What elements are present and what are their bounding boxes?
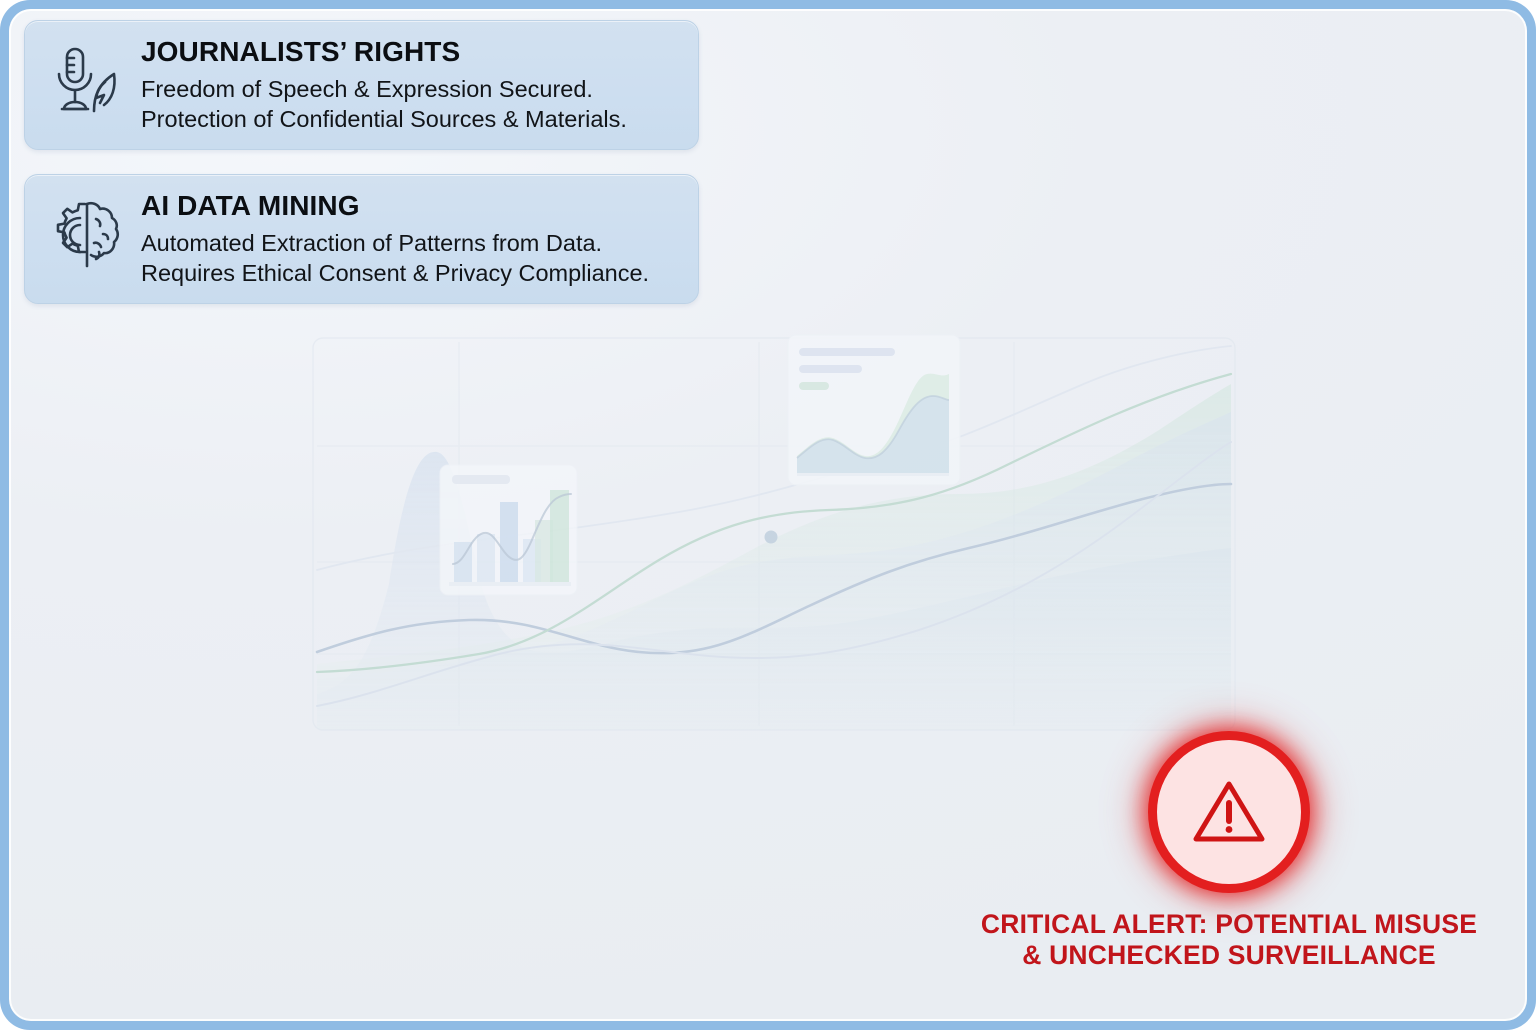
- alert-circle[interactable]: [1148, 731, 1310, 893]
- critical-alert-block: CRITICAL ALERT: POTENTIAL MISUSE & UNCHE…: [939, 704, 1519, 979]
- card-title: JOURNALISTS’ RIGHTS: [141, 37, 680, 68]
- card-title: AI DATA MINING: [141, 191, 680, 222]
- card-line-2: Requires Ethical Consent & Privacy Compl…: [141, 258, 680, 288]
- card-line-1: Freedom of Speech & Expression Secured.: [141, 74, 680, 104]
- alert-caption-line-1: CRITICAL ALERT: POTENTIAL MISUSE: [981, 909, 1477, 939]
- alert-caption: CRITICAL ALERT: POTENTIAL MISUSE & UNCHE…: [939, 909, 1519, 972]
- card-line-1: Automated Extraction of Patterns from Da…: [141, 228, 680, 258]
- card-ai-data-mining[interactable]: AI DATA MINING Automated Extraction of P…: [24, 174, 699, 304]
- microphone-feather-icon: [41, 35, 133, 127]
- alert-caption-line-2: & UNCHECKED SURVEILLANCE: [939, 940, 1519, 971]
- data-point-marker: [765, 531, 778, 544]
- inset-area-chart-card: [788, 335, 960, 485]
- app-frame: JOURNALISTS’ RIGHTS Freedom of Speech & …: [0, 0, 1536, 1030]
- card-text-block: JOURNALISTS’ RIGHTS Freedom of Speech & …: [141, 35, 680, 134]
- dashboard-illustration: [309, 334, 1239, 734]
- card-text-block: AI DATA MINING Automated Extraction of P…: [141, 189, 680, 288]
- stage-canvas: JOURNALISTS’ RIGHTS Freedom of Speech & …: [9, 9, 1527, 1021]
- gear-brain-icon: [41, 189, 133, 281]
- inset-bar-chart-card: [440, 465, 577, 595]
- illustration-svg: [309, 334, 1239, 734]
- card-line-2: Protection of Confidential Sources & Mat…: [141, 104, 680, 134]
- alert-badge[interactable]: [1121, 704, 1336, 919]
- warning-triangle-icon: [1190, 777, 1268, 847]
- card-journalists-rights[interactable]: JOURNALISTS’ RIGHTS Freedom of Speech & …: [24, 20, 699, 150]
